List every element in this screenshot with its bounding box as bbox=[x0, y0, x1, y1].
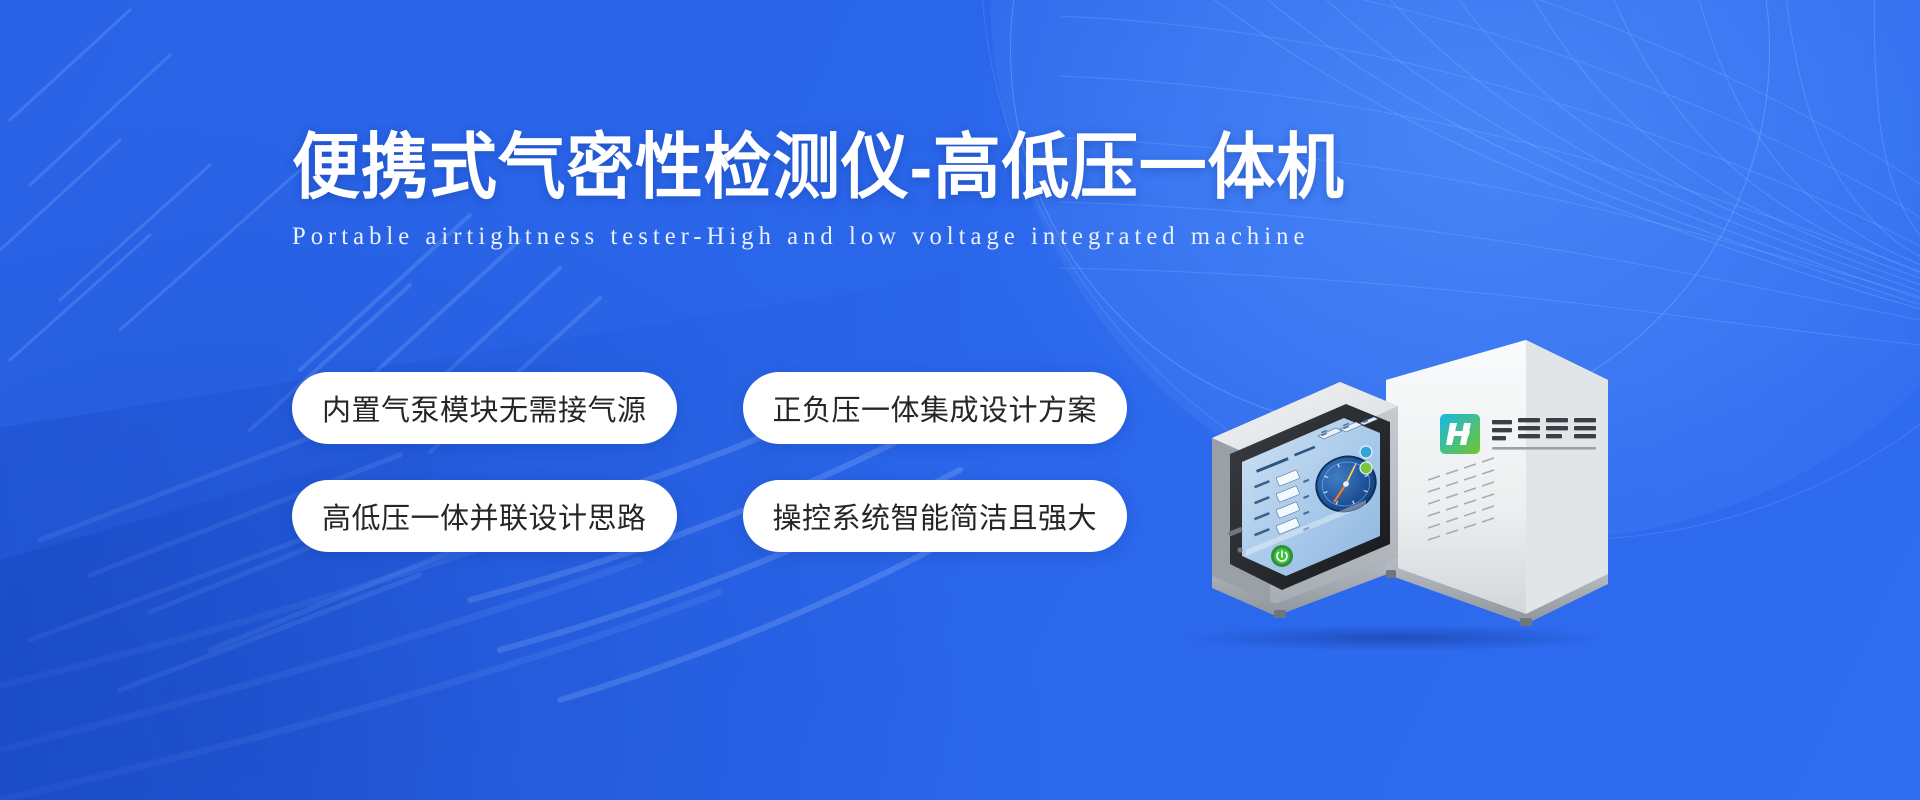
promo-banner: 便携式气密性检测仪-高低压一体机 Portable airtightness t… bbox=[0, 0, 1920, 800]
feature-pill-4[interactable]: 操控系统智能简洁且强大 bbox=[743, 480, 1128, 552]
page-subtitle: Portable airtightness tester-High and lo… bbox=[292, 222, 1346, 252]
feature-row-1: 内置气泵模块无需接气源 正负压一体集成设计方案 bbox=[292, 372, 1092, 444]
feature-pill-1[interactable]: 内置气泵模块无需接气源 bbox=[292, 372, 677, 444]
brand-name-en bbox=[1492, 447, 1596, 450]
feature-row-2: 高低压一体并联设计思路 操控系统智能简洁且强大 bbox=[292, 480, 1092, 552]
headline-block: 便携式气密性检测仪-高低压一体机 Portable airtightness t… bbox=[292, 128, 1362, 252]
feature-list: 内置气泵模块无需接气源 正负压一体集成设计方案 高低压一体并联设计思路 操控系统… bbox=[292, 372, 1092, 588]
product-image bbox=[1190, 318, 1620, 638]
page-title: 便携式气密性检测仪-高低压一体机 bbox=[292, 128, 1298, 208]
feature-pill-2[interactable]: 正负压一体集成设计方案 bbox=[743, 372, 1128, 444]
feature-pill-3[interactable]: 高低压一体并联设计思路 bbox=[292, 480, 677, 552]
power-button[interactable] bbox=[1271, 545, 1293, 567]
device-side-panel bbox=[1386, 340, 1608, 614]
